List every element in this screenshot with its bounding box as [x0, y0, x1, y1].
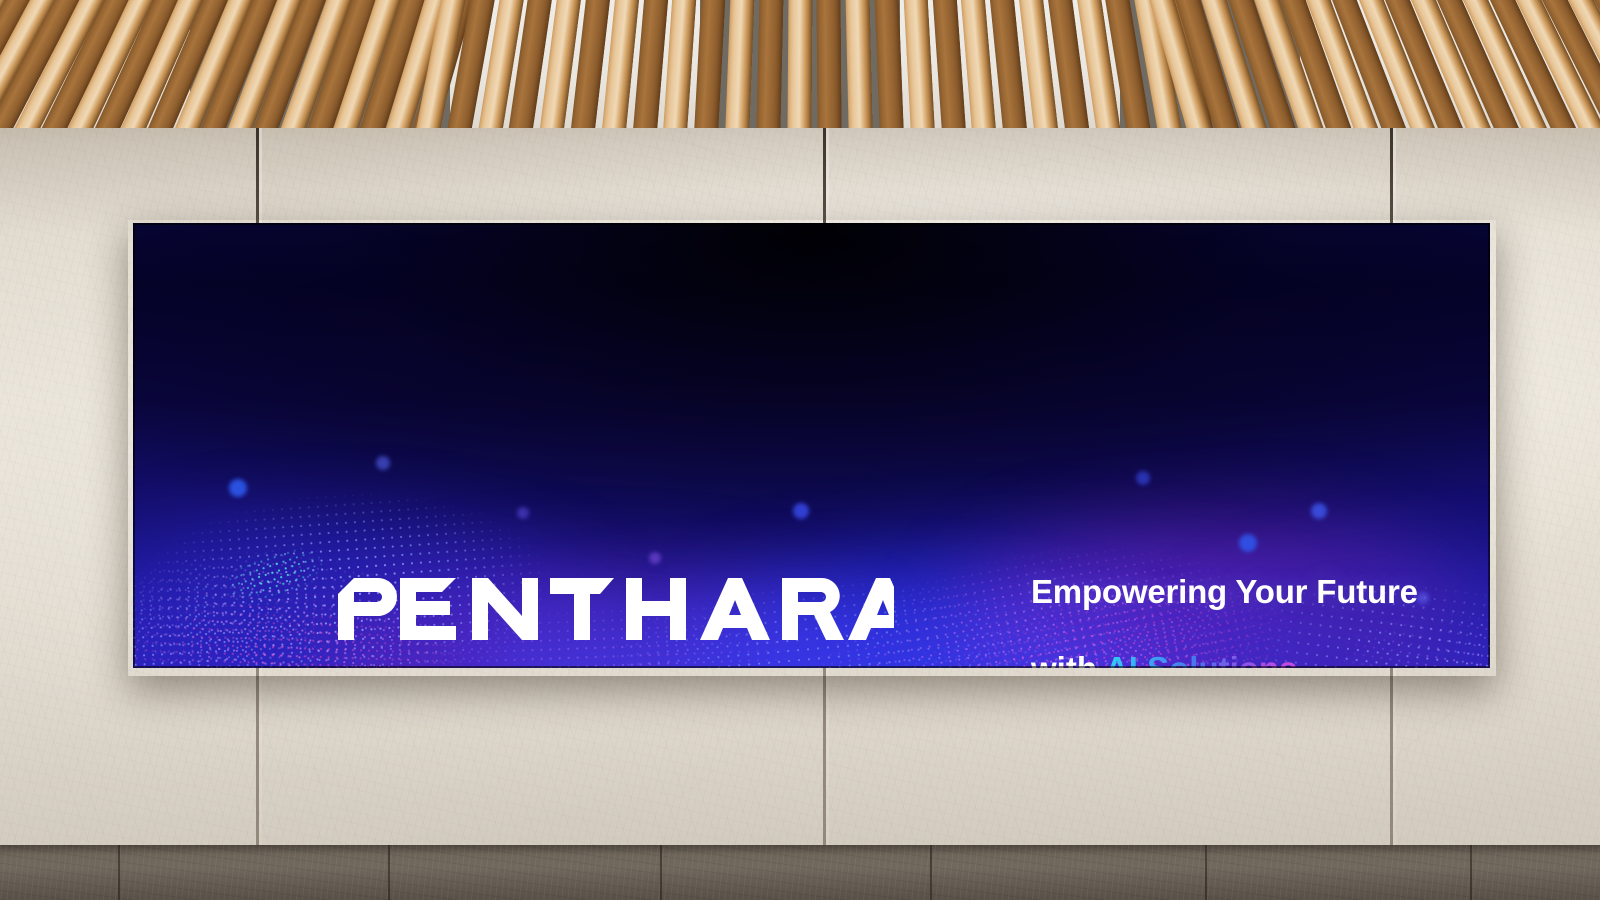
- tagline-prefix: with: [1031, 650, 1105, 668]
- billboard-tagline: Empowering Your Future with AI Solutions…: [1031, 575, 1490, 668]
- bokeh-dot: [1239, 534, 1257, 552]
- stone-baseboard: [0, 845, 1600, 900]
- bokeh-dot: [793, 503, 809, 519]
- wood-slat-ceiling: [0, 0, 1600, 128]
- tagline-highlight: AI Solutions: [1105, 650, 1298, 668]
- bokeh-dot: [649, 552, 661, 564]
- logo-svg: [338, 578, 894, 640]
- ceiling-slat: [816, 0, 842, 128]
- billboard-display[interactable]: Empowering Your Future with AI Solutions…: [133, 223, 1490, 668]
- logo-wordmark: [338, 578, 894, 640]
- bokeh-dot: [1311, 503, 1327, 519]
- tagline-line-2: with AI Solutions.: [1031, 652, 1490, 668]
- ceiling-slat: [786, 0, 812, 128]
- bokeh-dot: [229, 479, 247, 497]
- tagline-line-1: Empowering Your Future: [1031, 575, 1490, 608]
- ceiling-slat: [754, 0, 785, 128]
- bokeh-dot: [517, 507, 529, 519]
- tagline-period: .: [1297, 650, 1306, 668]
- baseboard-texture: [0, 845, 1600, 900]
- bokeh-dot: [376, 456, 390, 470]
- penthara-ai-logo: [338, 575, 894, 643]
- bokeh-dot: [1136, 471, 1150, 485]
- lobby-scene: Empowering Your Future with AI Solutions…: [0, 0, 1600, 900]
